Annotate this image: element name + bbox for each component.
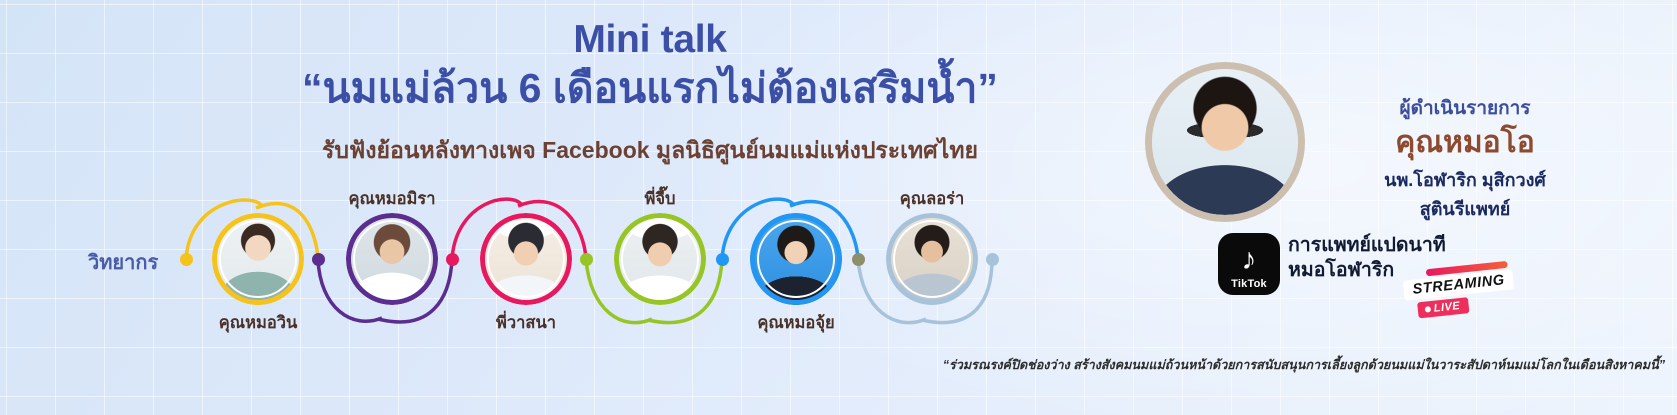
host-photo [1152,69,1298,215]
avatar-outer-ring [480,213,572,305]
tiktok-channel-line1: การแพทย์แปดนาที [1288,233,1446,258]
avatar-outer-ring [346,213,438,305]
speaker-name-1: คุณหมอวิน [178,310,338,336]
event-banner: Mini talk “นมแม่ล้วน 6 เดือนแรกไม่ต้องเส… [0,0,1677,415]
streaming-badge: STREAMING LIVE [1402,260,1517,319]
speaker-avatar-6[interactable] [886,213,978,305]
host-specialty: สูตินรีแพทย์ [1300,194,1630,223]
flow-dot [312,253,325,266]
title-quote: “นมแม่ล้วน 6 เดือนแรกไม่ต้องเสริมน้ำ” [180,64,1120,113]
flow-dot [180,253,193,266]
host-avatar[interactable] [1145,62,1305,222]
flow-dot [716,253,729,266]
host-info: ผู้ดำเนินรายการ คุณหมอโอ นพ.โอฬาริก มุสิ… [1300,93,1630,223]
speaker-name-3: พี่วาสนา [446,310,606,336]
host-name: คุณหมอโอ [1300,126,1630,159]
footer-note: “ร่วมรณรงค์ปิดช่องว่าง สร้างสังคมนมแม่ถ้… [845,355,1665,375]
title-subtitle: รับฟังย้อนหลังทางเพจ Facebook มูลนิธิศูน… [180,133,1120,169]
host-photo-image [1152,69,1298,215]
live-dot-icon [1425,306,1432,313]
live-label: LIVE [1433,300,1461,315]
page-title: Mini talk [180,18,1120,62]
speaker-name-2: คุณหมอมิรา [312,186,472,212]
flow-dot [580,253,593,266]
speaker-avatar-2[interactable] [346,213,438,305]
music-note-icon: ♪ [1242,245,1257,275]
flow-dot [986,253,999,266]
speaker-name-4: พี่จี๊บ [580,186,740,212]
speaker-name-6: คุณลอร่า [852,186,1012,212]
speaker-name-5: คุณหมอจุ้ย [716,310,876,336]
title-block: Mini talk “นมแม่ล้วน 6 เดือนแรกไม่ต้องเส… [180,18,1120,169]
host-full-name: นพ.โอฬาริก มุสิกวงศ์ [1300,165,1630,194]
tiktok-icon-label: TikTok [1218,278,1280,290]
avatar-outer-ring [886,213,978,305]
tiktok-icon[interactable]: ♪ TikTok [1218,233,1280,295]
speaker-avatar-1[interactable] [212,213,304,305]
avatar-outer-ring [212,213,304,305]
speaker-avatar-4[interactable] [614,213,706,305]
speaker-avatar-3[interactable] [480,213,572,305]
flow-dot [446,253,459,266]
live-chip: LIVE [1417,297,1470,318]
host-role: ผู้ดำเนินรายการ [1300,93,1630,123]
speaker-avatar-5[interactable] [750,213,842,305]
speaker-flow: คุณหมอวิน คุณหมอมิรา พี่วาสนา พี่จี๊บ [0,180,1040,340]
flow-dot [852,253,865,266]
avatar-outer-ring [750,213,842,305]
avatar-outer-ring [614,213,706,305]
